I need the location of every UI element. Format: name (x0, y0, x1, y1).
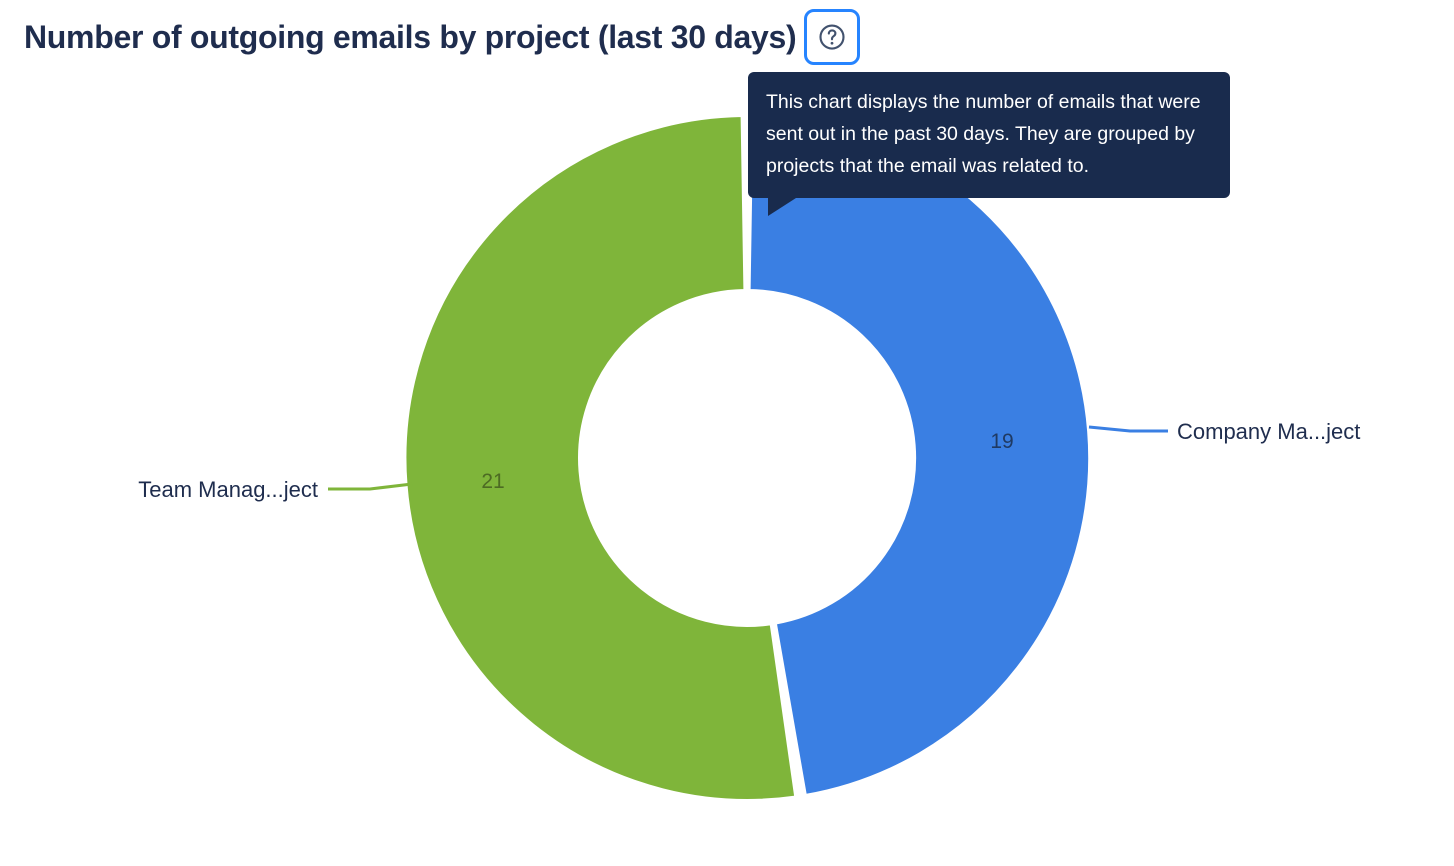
help-tooltip: This chart displays the number of emails… (748, 72, 1230, 198)
tooltip-pointer (768, 198, 796, 216)
slice-value-label-company: 19 (990, 430, 1013, 453)
slice-category-label-team: Team Manag...ject (138, 477, 318, 502)
slice-category-label-company: Company Ma...ject (1177, 419, 1360, 444)
chart-header: Number of outgoing emails by project (la… (24, 8, 860, 66)
help-button[interactable] (804, 9, 860, 65)
leader-line-company-management-project (1089, 427, 1168, 431)
pie-slice-company-management-project[interactable] (750, 116, 1090, 795)
donut-chart[interactable]: 19 21 Company Ma...ject Team Manag...jec… (0, 0, 1454, 866)
leader-line-team-management-project (328, 484, 412, 489)
page-title: Number of outgoing emails by project (la… (24, 21, 796, 53)
help-tooltip-text: This chart displays the number of emails… (766, 86, 1212, 182)
question-mark-circle-icon (817, 22, 847, 52)
pie-slice-team-management-project[interactable] (405, 116, 795, 800)
slice-value-label-team: 21 (481, 470, 504, 493)
